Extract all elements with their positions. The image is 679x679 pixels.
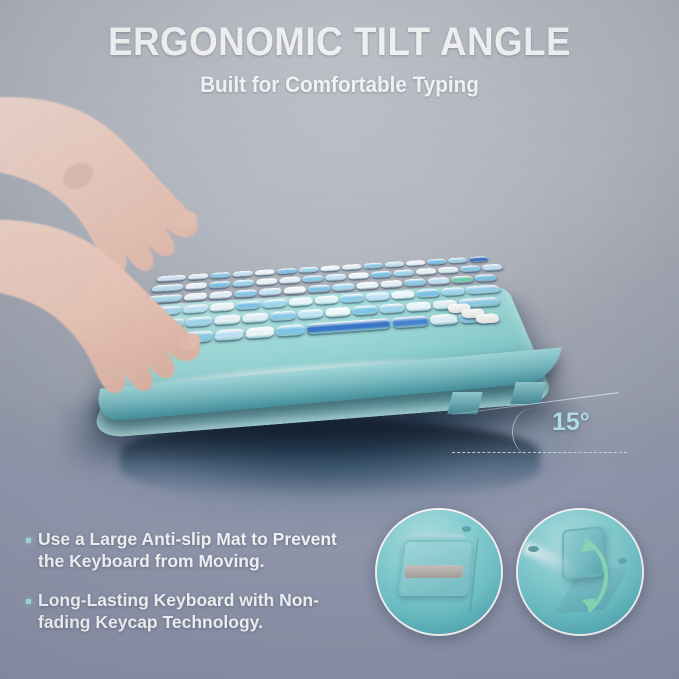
product-feature-image: ERGONOMIC TILT ANGLE Built for Comfortab… (0, 0, 679, 679)
vignette-overlay (0, 0, 679, 679)
